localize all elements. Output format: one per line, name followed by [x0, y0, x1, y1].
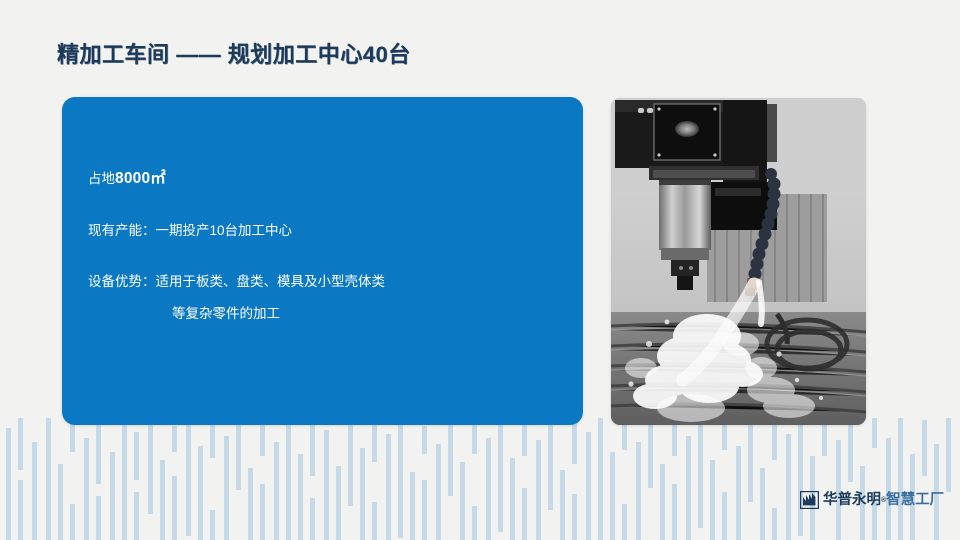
decorative-bar — [110, 452, 115, 540]
info-panel: 占地8000㎡ 现有产能：一期投产10台加工中心 设备优势：适用于板类、盘类、模… — [62, 97, 583, 425]
decorative-bar — [348, 418, 353, 506]
decorative-bar — [586, 432, 591, 540]
decorative-bar — [622, 504, 627, 540]
decorative-bar — [398, 418, 403, 538]
photo-graphic — [611, 98, 866, 425]
decorative-bar — [472, 506, 477, 540]
decorative-bar — [372, 502, 377, 540]
decorative-bar — [798, 418, 803, 536]
decorative-bar — [436, 444, 441, 540]
info-panel-text: 占地8000㎡ 现有产能：一期投产10台加工中心 设备优势：适用于板类、盘类、模… — [88, 167, 558, 324]
decorative-bar — [422, 426, 427, 454]
page-title: 精加工车间 —— 规划加工中心40台 — [57, 37, 411, 69]
logo-subbrand-text: 智慧工厂 — [886, 493, 944, 508]
area-prefix: 占地 — [88, 171, 115, 186]
brand-logo: 华普永明®智慧工厂 — [800, 488, 944, 512]
decorative-bar — [70, 422, 75, 452]
decorative-bar — [522, 488, 527, 540]
decorative-bar — [134, 492, 139, 540]
decorative-bar — [760, 468, 765, 540]
decorative-bar — [18, 418, 23, 470]
decorative-bar — [872, 418, 877, 448]
decorative-bar — [898, 418, 903, 540]
decorative-bar — [46, 418, 51, 540]
huapu-logo-mark-icon — [800, 491, 819, 509]
decorative-bar — [422, 480, 427, 540]
decorative-bar — [722, 424, 727, 450]
decorative-bar — [6, 428, 11, 540]
decorative-bar — [260, 484, 265, 540]
decorative-bar — [324, 430, 329, 540]
decorative-bar — [310, 498, 315, 540]
machining-center-photo — [611, 98, 866, 425]
decorative-bar — [548, 418, 553, 510]
decorative-bar — [822, 422, 827, 456]
decorative-bar — [510, 458, 515, 540]
decorative-bar — [522, 424, 527, 456]
decorative-bar — [560, 470, 565, 540]
decorative-bar — [610, 452, 615, 540]
decorative-bar — [460, 462, 465, 540]
area-value: 8000㎡ — [115, 170, 166, 187]
decorative-bar — [448, 418, 453, 496]
decorative-bar — [946, 418, 951, 492]
decorative-bar — [648, 418, 653, 488]
slide-root: 精加工车间 —— 规划加工中心40台 占地8000㎡ 现有产能：一期投产10台加… — [0, 0, 960, 540]
decorative-bar — [360, 448, 365, 540]
decorative-bar — [248, 468, 253, 540]
decorative-bar — [172, 476, 177, 540]
decorative-bar — [686, 436, 691, 540]
decorative-bar — [236, 418, 241, 490]
decorative-bar — [660, 464, 665, 540]
decorative-bar — [922, 420, 927, 476]
decorative-bar — [96, 418, 101, 484]
decorative-bar — [172, 426, 177, 452]
decorative-bar — [498, 418, 503, 532]
decorative-bar — [698, 418, 703, 528]
decorative-bar — [260, 422, 265, 456]
decorative-bar — [736, 446, 741, 540]
panel-line-area: 占地8000㎡ — [88, 167, 558, 190]
decorative-bar — [84, 438, 89, 540]
decorative-bar — [598, 418, 603, 540]
decorative-bar — [636, 442, 641, 540]
decorative-bar — [96, 496, 101, 540]
decorative-bar — [572, 494, 577, 540]
decorative-bar — [710, 460, 715, 540]
decorative-bar — [18, 480, 23, 540]
decorative-bars — [0, 418, 960, 540]
decorative-bar — [772, 508, 777, 540]
decorative-bar — [310, 418, 315, 476]
decorative-bar — [672, 484, 677, 540]
decorative-bar — [386, 434, 391, 540]
decorative-bar — [572, 418, 577, 464]
decorative-bar — [786, 434, 791, 540]
decorative-bar — [722, 492, 727, 540]
panel-line-advantage-cont: 等复杂零件的加工 — [88, 304, 558, 324]
decorative-bar — [536, 440, 541, 540]
decorative-bar — [70, 504, 75, 540]
decorative-bar — [848, 418, 853, 482]
panel-line-advantage: 设备优势：适用于板类、盘类、模具及小型壳体类 — [88, 272, 558, 292]
decorative-bar — [210, 510, 215, 540]
decorative-bar — [748, 418, 753, 502]
decorative-bar — [224, 436, 229, 540]
logo-brand-text: 华普永明 — [823, 493, 881, 508]
decorative-bar — [160, 460, 165, 540]
decorative-bar — [186, 418, 191, 536]
decorative-bar — [122, 418, 127, 540]
decorative-bar — [336, 466, 341, 540]
decorative-bar — [486, 438, 491, 540]
decorative-bar — [58, 464, 63, 540]
decorative-bar — [198, 446, 203, 540]
panel-line-capacity: 现有产能：一期投产10台加工中心 — [88, 221, 558, 241]
decorative-bar — [298, 454, 303, 540]
decorative-bar — [274, 442, 279, 540]
decorative-bar — [148, 418, 153, 514]
decorative-bar — [32, 442, 37, 540]
decorative-bar — [410, 472, 415, 540]
decorative-bar — [134, 432, 139, 480]
decorative-bar — [286, 418, 291, 540]
